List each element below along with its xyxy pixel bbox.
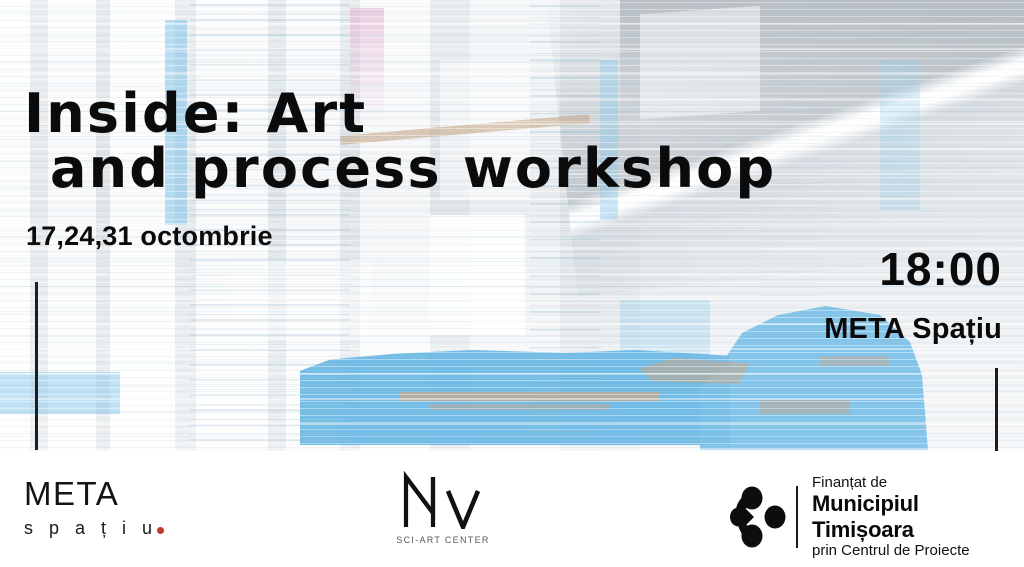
meta-logo-subword: s p a ț i u bbox=[24, 519, 204, 537]
funding-line-2: Municipiul Timișoara bbox=[812, 491, 1024, 542]
mv-logo-tagline: SCI-ART CENTER bbox=[388, 535, 498, 545]
red-dot-icon bbox=[157, 527, 164, 534]
funding-line-3: prin Centrul de Proiecte bbox=[812, 542, 1024, 559]
mv-monogram-icon bbox=[388, 471, 498, 529]
event-venue: META Spațiu bbox=[824, 313, 1002, 346]
funding-logo-text: Finanțat de Municipiul Timișoara prin Ce… bbox=[812, 474, 1024, 559]
event-poster: Inside: Artand process workshop 17,24,31… bbox=[0, 0, 1024, 567]
poster-title: Inside: Artand process workshop bbox=[24, 86, 776, 196]
poster-title-line-1: Inside: Art bbox=[24, 82, 367, 145]
vertical-rule-right bbox=[995, 368, 998, 451]
funding-line-1: Finanțat de bbox=[812, 474, 1024, 491]
mv-sci-art-center-logo: SCI-ART CENTER bbox=[388, 471, 498, 545]
poster-title-line-2: and process workshop bbox=[50, 141, 776, 196]
meta-logo-subword-text: s p a ț i u bbox=[24, 518, 158, 538]
municipiul-timisoara-funding-logo: Finanțat de Municipiul Timișoara prin Ce… bbox=[730, 474, 1024, 559]
timisoara-molecule-icon bbox=[730, 484, 786, 550]
event-dates: 17,24,31 octombrie bbox=[26, 221, 273, 252]
event-time: 18:00 bbox=[879, 242, 1002, 296]
meta-logo-wordmark: META bbox=[24, 477, 204, 510]
footer-logo-band: META s p a ț i u SCI-ART CENTER bbox=[0, 451, 1024, 567]
funding-logo-divider bbox=[796, 486, 798, 548]
vertical-rule-left bbox=[35, 282, 38, 450]
meta-spatiu-logo: META s p a ț i u bbox=[24, 477, 204, 537]
